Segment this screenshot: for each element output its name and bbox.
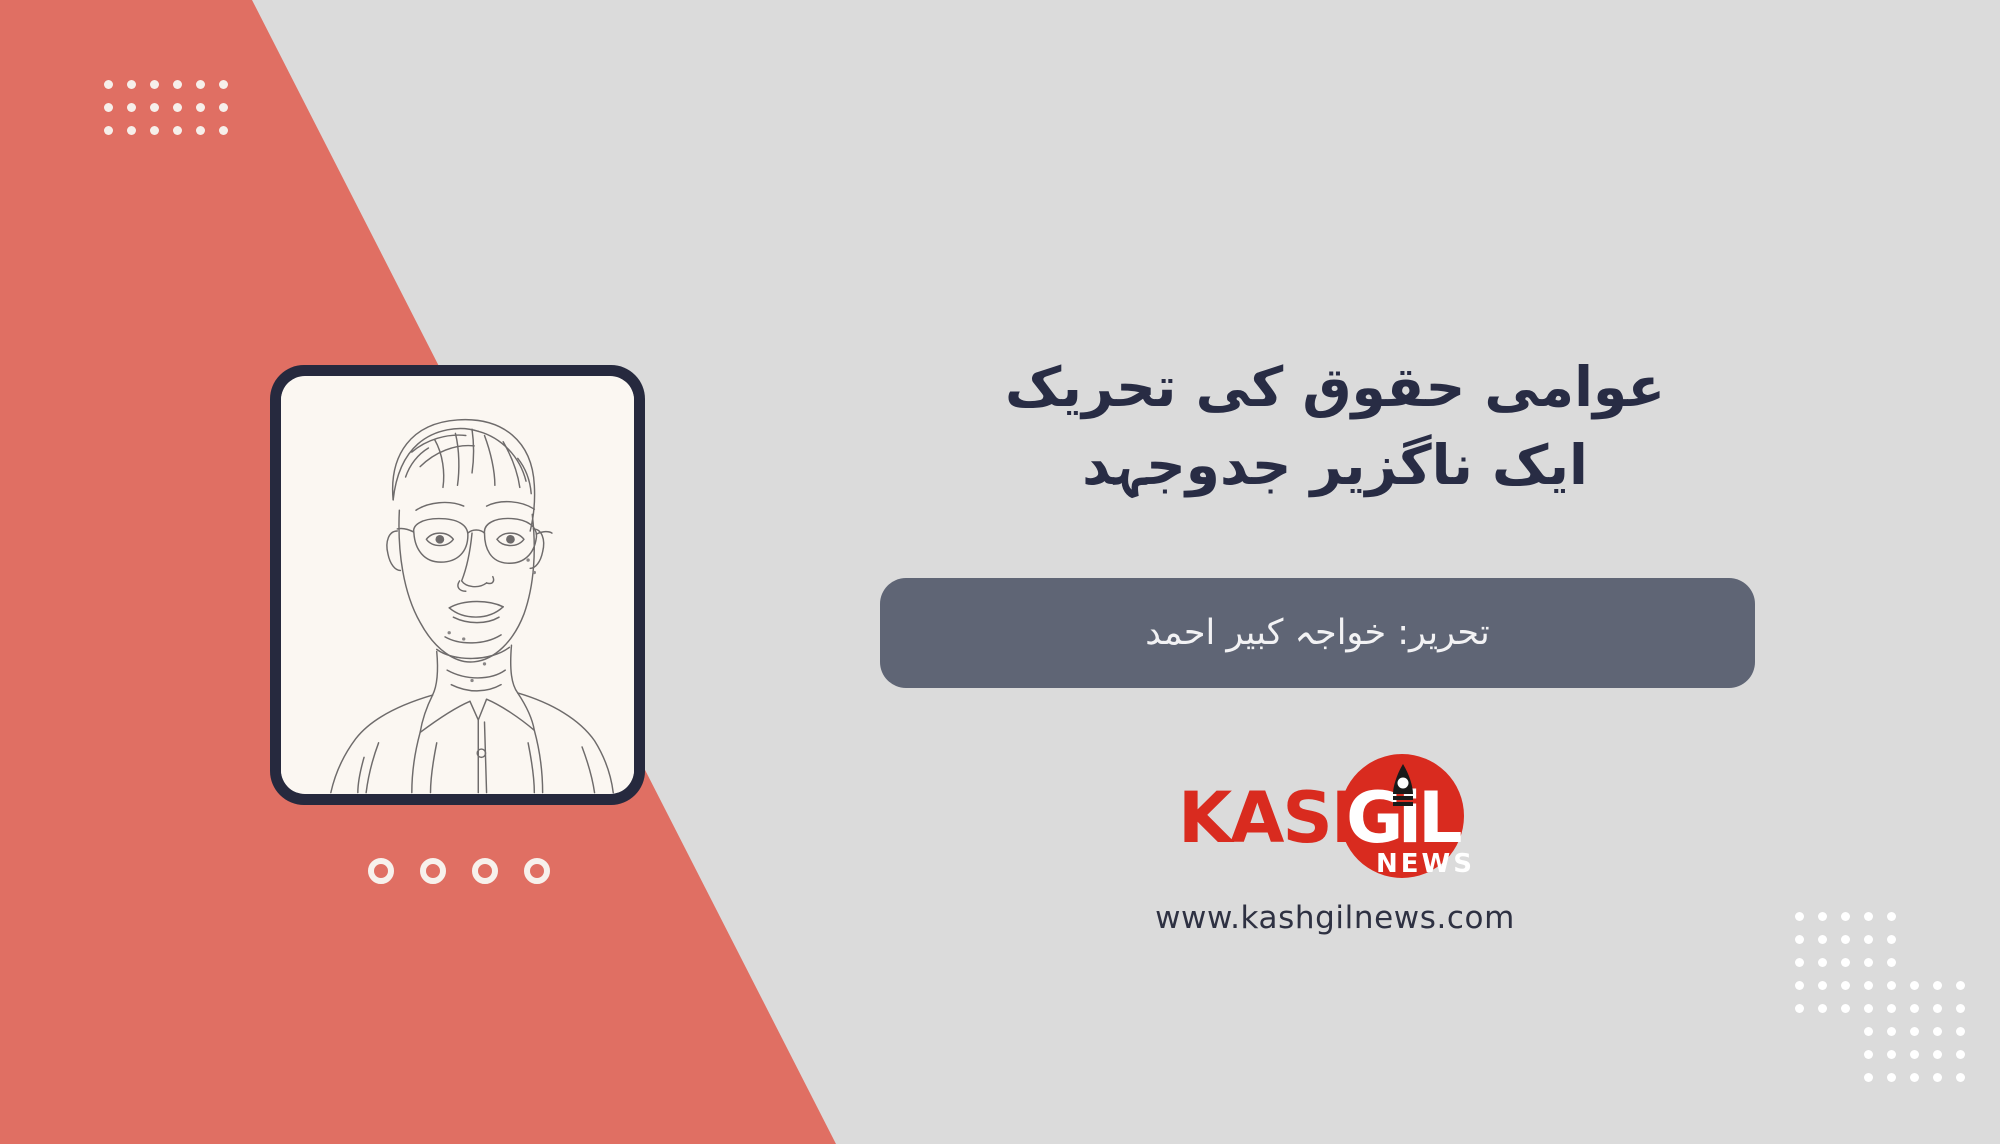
decor-dot: [104, 126, 113, 135]
decor-dot: [1887, 981, 1896, 990]
page-title-line-2: ایک ناگزیر جدوجہد: [870, 426, 1800, 504]
decor-dot: [1795, 912, 1804, 921]
page-title: عوامی حقوق کی تحریک ایک ناگزیر جدوجہد: [870, 348, 1800, 504]
decor-dot: [173, 126, 182, 135]
decor-dot: [1887, 1004, 1896, 1013]
decor-dot: [1933, 1050, 1942, 1059]
decor-dot: [1818, 912, 1827, 921]
decor-dot: [1910, 1004, 1919, 1013]
decor-dot: [1841, 1004, 1850, 1013]
decor-dot: [196, 103, 205, 112]
decor-dot: [150, 126, 159, 135]
right-content-column: عوامی حقوق کی تحریک ایک ناگزیر جدوجہد تح…: [870, 0, 1800, 1144]
decor-dot: [1956, 981, 1965, 990]
decor-dot: [1818, 958, 1827, 967]
decor-dot: [1795, 935, 1804, 944]
author-portrait-image: [281, 376, 634, 794]
decor-dot: [1887, 1050, 1896, 1059]
decor-dot: [219, 103, 228, 112]
decor-dot: [104, 103, 113, 112]
decor-dot: [173, 103, 182, 112]
decor-dot: [219, 126, 228, 135]
decor-ring: [524, 858, 550, 884]
decor-dot: [1910, 1050, 1919, 1059]
decor-dot: [1795, 1004, 1804, 1013]
author-portrait-frame: [270, 365, 645, 805]
decor-dot: [1887, 958, 1896, 967]
decor-dot: [1933, 1004, 1942, 1013]
decor-dot: [1818, 1004, 1827, 1013]
decor-dot: [150, 80, 159, 89]
decor-dot: [150, 103, 159, 112]
decor-dot: [196, 80, 205, 89]
decor-dot: [1864, 981, 1873, 990]
decor-ring: [368, 858, 394, 884]
decor-dot: [1933, 1073, 1942, 1082]
ring-decoration-row: [368, 858, 550, 884]
decor-dot: [104, 80, 113, 89]
svg-text:L: L: [1418, 777, 1461, 859]
decor-dot: [1910, 981, 1919, 990]
decor-dot: [1841, 935, 1850, 944]
author-byline-text: تحریر: خواجہ کبیر احمد: [1145, 613, 1490, 653]
decor-dot: [1956, 1004, 1965, 1013]
author-byline-pill: تحریر: خواجہ کبیر احمد: [880, 578, 1755, 688]
decor-dot: [1933, 981, 1942, 990]
decor-ring: [472, 858, 498, 884]
decor-dot: [1795, 958, 1804, 967]
decor-dot: [1864, 1027, 1873, 1036]
bottom-right-dot-grid: [1795, 912, 1979, 1096]
decor-dot: [1910, 1073, 1919, 1082]
kashgil-news-logo: KASH G i L NEWS: [870, 750, 1800, 880]
decor-dot: [1887, 1027, 1896, 1036]
decor-dot: [1864, 1004, 1873, 1013]
page-title-line-1: عوامی حقوق کی تحریک: [870, 348, 1800, 426]
decor-dot: [173, 80, 182, 89]
website-url: www.kashgilnews.com: [870, 900, 1800, 936]
logo-news-text: NEWS: [1376, 849, 1475, 879]
decor-dot: [1956, 1027, 1965, 1036]
decor-dot: [1887, 1073, 1896, 1082]
decor-dot: [127, 103, 136, 112]
top-left-dot-grid: [104, 80, 242, 149]
decor-dot: [1887, 935, 1896, 944]
decor-dot: [1910, 1027, 1919, 1036]
decor-dot: [1933, 1027, 1942, 1036]
decor-dot: [1841, 981, 1850, 990]
decor-dot: [1956, 1050, 1965, 1059]
decor-dot: [1841, 912, 1850, 921]
decor-dot: [1887, 912, 1896, 921]
decor-dot: [196, 126, 205, 135]
decor-dot: [127, 80, 136, 89]
decor-dot: [1956, 1073, 1965, 1082]
decor-dot: [219, 80, 228, 89]
decor-dot: [1864, 912, 1873, 921]
poster-canvas: عوامی حقوق کی تحریک ایک ناگزیر جدوجہد تح…: [0, 0, 2000, 1144]
decor-dot: [1795, 981, 1804, 990]
decor-dot: [1864, 958, 1873, 967]
decor-dot: [1818, 981, 1827, 990]
decor-dot: [1864, 1073, 1873, 1082]
logo-gil-text: G: [1346, 777, 1401, 859]
decor-dot: [1818, 935, 1827, 944]
decor-dot: [1864, 935, 1873, 944]
decor-dot: [127, 126, 136, 135]
decor-dot: [1864, 1050, 1873, 1059]
decor-dot: [1841, 958, 1850, 967]
decor-ring: [420, 858, 446, 884]
